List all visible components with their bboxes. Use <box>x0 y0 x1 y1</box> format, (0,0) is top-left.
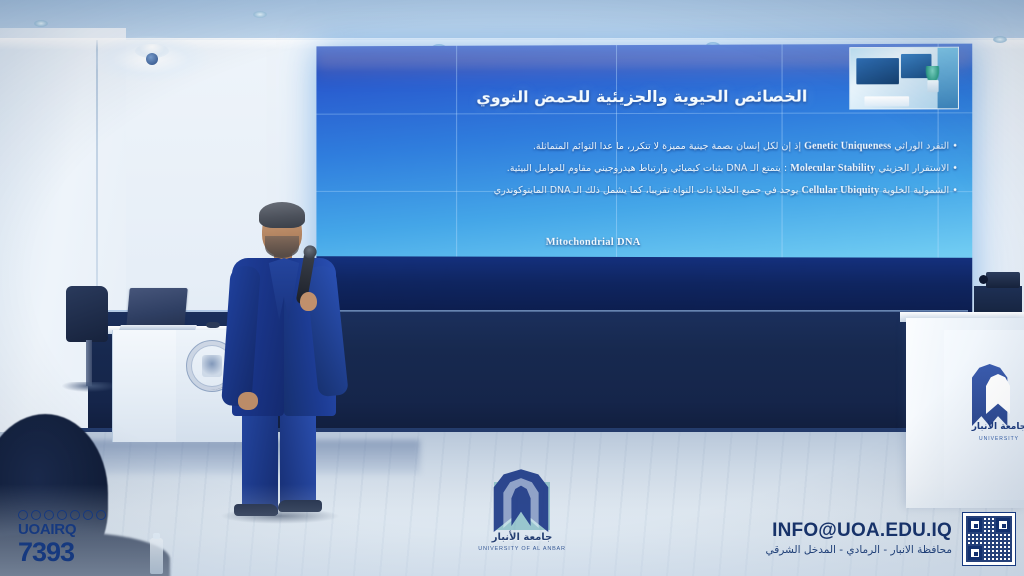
podium-logo-english: UNIVERSITY <box>966 436 1024 442</box>
bullet-arabic-body: : يتمتع الـ DNA بثبات كيميائي وارتباط هي… <box>507 163 787 174</box>
bullet-arabic-lead: الاستقرار الجزيئي <box>878 163 949 174</box>
podium-university-logo: جامعة الأنبار UNIVERSITY <box>966 360 1024 470</box>
bullet-marker: • <box>952 163 958 174</box>
list-item: • التفرد الوراثي Genetic Uniqueness إذ إ… <box>334 137 958 158</box>
youtube-icon[interactable] <box>57 510 67 520</box>
bullet-english-term: Cellular Ubiquity <box>801 185 879 196</box>
logo-english-text: UNIVERSITY OF AL ANBAR <box>476 546 568 552</box>
water-bottle <box>150 538 163 574</box>
bullet-arabic-body: يوجد في جميع الخلايا ذات النواة تقريبا، … <box>494 185 799 196</box>
inset-color-strip <box>938 48 959 109</box>
bullet-arabic-body: إذ إن لكل إنسان بصمة جينية مميزة لا تتكر… <box>533 141 801 152</box>
qr-finder-tl <box>968 518 982 532</box>
contact-text-block: INFO@UOA.EDU.IQ محافظة الانبار - الرمادي… <box>760 520 952 558</box>
chair-stem <box>86 340 92 386</box>
ceiling-spotlight <box>135 44 169 58</box>
panel-seam <box>316 112 972 114</box>
bullet-english-term: Molecular Stability <box>790 163 875 174</box>
social-handle-text: UOAIRQ <box>18 522 138 538</box>
contact-overlay: INFO@UOA.EDU.IQ محافظة الانبار - الرمادي… <box>760 508 1016 570</box>
podium-logo-arabic: جامعة الأنبار <box>966 422 1024 432</box>
social-handle-number: 7393 <box>18 538 138 566</box>
laptop-screen <box>126 288 187 328</box>
instagram-icon[interactable] <box>31 510 41 520</box>
speaker-hair <box>259 202 305 228</box>
whatsapp-icon[interactable] <box>96 510 106 520</box>
bullet-marker: • <box>952 185 958 196</box>
linkedin-icon[interactable] <box>83 510 93 520</box>
social-handle-overlay: UOAIRQ 7393 <box>18 510 138 566</box>
speaker-hand-right <box>300 292 317 311</box>
twitter-icon[interactable] <box>44 510 54 520</box>
inset-laptop-icon <box>856 58 899 84</box>
chair-base <box>62 382 118 392</box>
qr-finder-bl <box>968 546 982 560</box>
contact-address: محافظة الانبار - الرمادي - المدخل الشرقي <box>760 542 952 558</box>
camera-icon <box>986 272 1020 288</box>
screen-bottom-band <box>316 256 972 316</box>
screenshot-root: الخصائص الحيوية والجزيئية للحمض النووي •… <box>0 0 1024 576</box>
bullet-marker: • <box>952 141 958 152</box>
slide-footer-term: Mitochondrial DNA <box>316 236 972 248</box>
qr-code-icon[interactable] <box>962 512 1016 566</box>
inset-book-icon <box>864 96 909 106</box>
bullet-arabic-lead: الشمولية الخلوية <box>882 185 949 196</box>
office-chair <box>66 286 108 342</box>
contact-email[interactable]: INFO@UOA.EDU.IQ <box>760 520 952 542</box>
list-item: • الاستقرار الجزيئي Molecular Stability … <box>334 159 958 179</box>
laptop-base <box>119 325 197 330</box>
inset-cup-icon <box>927 80 938 92</box>
speaker-beard <box>265 236 299 258</box>
bullet-arabic-lead: التفرد الوراثي <box>894 141 949 152</box>
social-icons <box>18 510 138 520</box>
slide-inset-image <box>849 47 959 110</box>
speaker-figure <box>212 196 352 516</box>
list-item: • الشمولية الخلوية Cellular Ubiquity يوج… <box>334 181 958 201</box>
speaker-shoe-right <box>278 500 322 512</box>
speaker-leg-right <box>280 410 316 510</box>
speaker-shoe-left <box>234 504 278 516</box>
facebook-icon[interactable] <box>18 510 28 520</box>
ceiling-downlight <box>993 36 1007 43</box>
qr-finder-tr <box>996 518 1010 532</box>
video-wall-display: الخصائص الحيوية والجزيئية للحمض النووي •… <box>316 44 972 317</box>
telegram-icon[interactable] <box>70 510 80 520</box>
ceiling-downlight <box>34 20 48 27</box>
ceiling-downlight <box>253 11 267 18</box>
slide-bullet-list: • التفرد الوراثي Genetic Uniqueness إذ إ… <box>334 137 958 204</box>
logo-arabic-text: جامعة الأنبار <box>476 532 568 543</box>
bullet-english-term: Genetic Uniqueness <box>804 141 891 152</box>
university-logo-watermark: جامعة الأنبار UNIVERSITY OF AL ANBAR <box>476 466 568 570</box>
speaker-leg-left <box>242 410 278 514</box>
speaker-hand-left <box>238 392 258 410</box>
